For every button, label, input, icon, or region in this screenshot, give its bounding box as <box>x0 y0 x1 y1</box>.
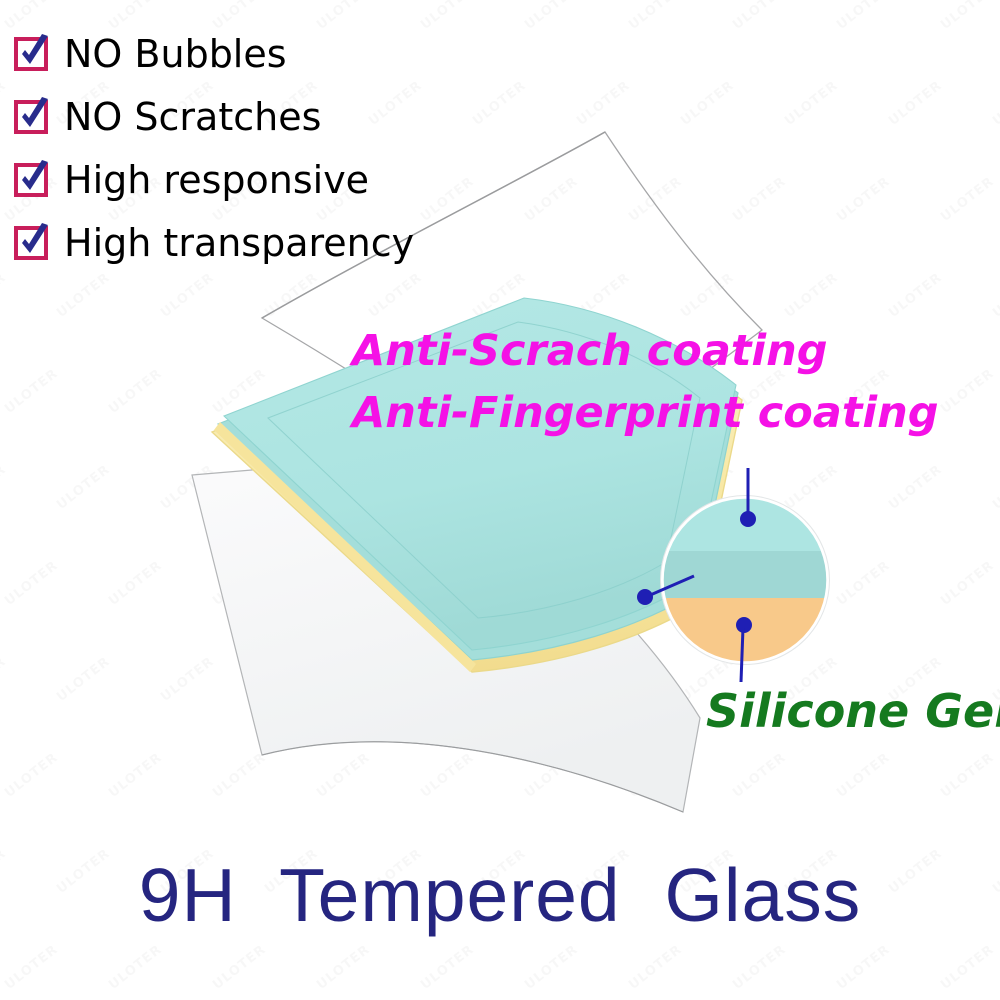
checkmark-icon <box>15 223 53 261</box>
feature-item-no-bubbles[interactable]: NO Bubbles <box>14 30 414 77</box>
checkbox-no-scratches[interactable] <box>14 100 48 134</box>
checkbox-high-responsive[interactable] <box>14 163 48 197</box>
feature-item-high-transparency[interactable]: High transparency <box>14 219 414 266</box>
callout-anti-scratch-coating: Anti-Scrach coating <box>352 330 828 373</box>
feature-label-no-bubbles: NO Bubbles <box>64 35 287 73</box>
feature-checklist: NO Bubbles NO Scratches High responsive <box>14 30 414 266</box>
callout-anti-fingerprint-coating: Anti-Fingerprint coating <box>352 392 939 435</box>
feature-label-high-responsive: High responsive <box>64 161 369 199</box>
product-infographic-poster: ULOTERULOTERULOTERULOTERULOTERULOTERULOT… <box>0 0 1000 1000</box>
checkmark-icon <box>15 34 53 72</box>
feature-item-high-responsive[interactable]: High responsive <box>14 156 414 203</box>
band-glass <box>660 551 832 598</box>
feature-label-high-transparency: High transparency <box>64 224 414 262</box>
checkmark-icon <box>15 97 53 135</box>
feature-item-no-scratches[interactable]: NO Scratches <box>14 93 414 140</box>
feature-label-no-scratches: NO Scratches <box>64 98 321 136</box>
checkbox-no-bubbles[interactable] <box>14 37 48 71</box>
marker-glass-edge <box>637 589 653 605</box>
band-silicone-gel <box>660 598 832 668</box>
marker-coating <box>740 511 756 527</box>
checkmark-icon <box>15 160 53 198</box>
page-title: 9H Tempered Glass <box>0 858 1000 933</box>
callout-silicone-gel: Silicone Gel <box>706 688 1000 734</box>
checkbox-high-transparency[interactable] <box>14 226 48 260</box>
